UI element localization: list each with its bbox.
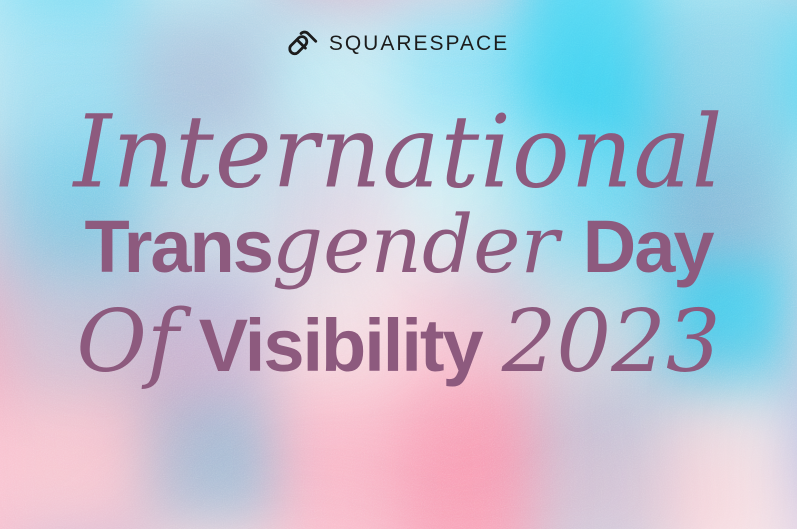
headline-word-trans: Trans (84, 210, 271, 284)
headline-word-gender: gender (272, 205, 559, 285)
squarespace-logo-lockup[interactable]: SQUARESPACE (288, 30, 509, 56)
trans-day-of-visibility-poster: SQUARESPACE International Trans gender D… (0, 0, 797, 529)
headline-word-day: Day (583, 210, 713, 284)
headline-word-visibility: Visibility (199, 309, 482, 383)
headline-block: International Trans gender Day Of Visibi… (0, 104, 797, 385)
headline-word-international: International (74, 102, 724, 202)
headline-word-of: Of (76, 299, 178, 385)
squarespace-logo-icon (288, 30, 318, 56)
headline-word-year: 2023 (502, 299, 721, 385)
headline-line-3: Of Visibility 2023 (0, 299, 797, 385)
headline-line-2: Trans gender Day (0, 205, 797, 285)
squarespace-wordmark: SQUARESPACE (329, 33, 509, 54)
headline-line-1: International (0, 102, 797, 203)
poster-content: SQUARESPACE International Trans gender D… (0, 0, 797, 529)
